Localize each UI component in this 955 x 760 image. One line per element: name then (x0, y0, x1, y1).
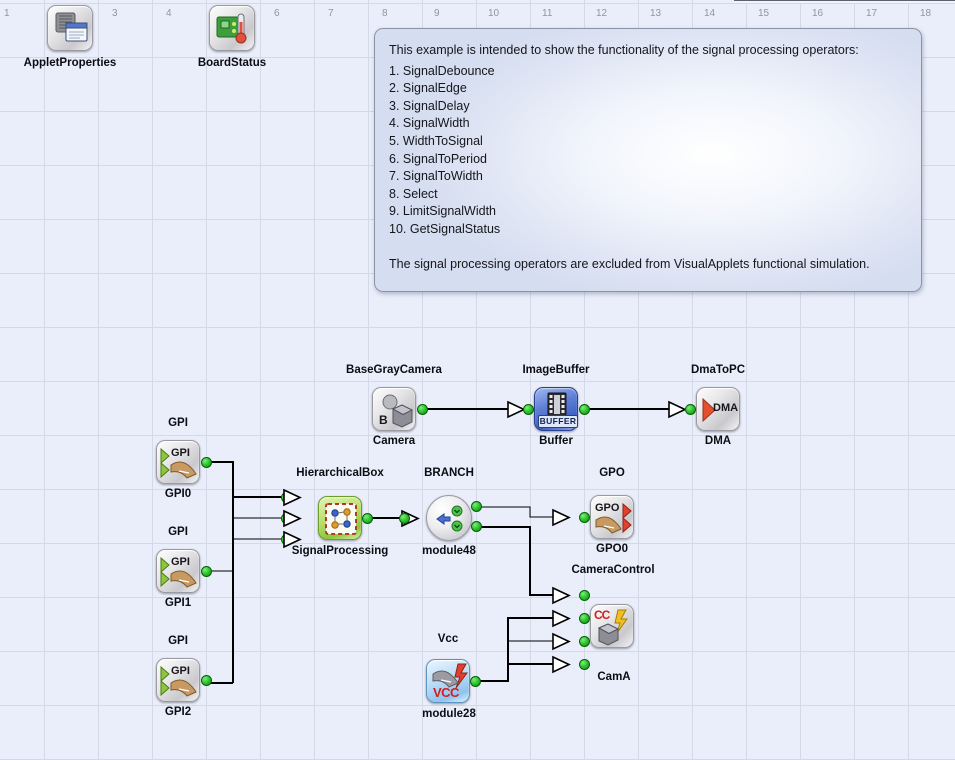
gpi1-badge: GPI (171, 557, 190, 568)
gpi2-output-port[interactable] (201, 675, 212, 686)
camera-glyph: B (373, 388, 417, 432)
camctrl-input-arrow-3-icon (551, 632, 573, 651)
buffer-output-port[interactable] (579, 404, 590, 415)
comment-list-item: 6. SignalToPeriod (389, 151, 907, 169)
node-gpi2-name: GPI2 (153, 706, 203, 718)
camctrl-input-port-1[interactable] (579, 590, 590, 601)
applet-properties-icon[interactable] (47, 5, 93, 51)
chip-window-glyph (48, 6, 94, 52)
comment-list-item: 1. SignalDebounce (389, 63, 907, 81)
board-status-icon[interactable] (209, 5, 255, 51)
comment-list-item: 7. SignalToWidth (389, 168, 907, 186)
node-camera-type: BaseGrayCamera (325, 364, 463, 376)
gpo0-input-port[interactable] (579, 512, 590, 523)
branch-input-port[interactable] (399, 513, 410, 524)
branch-output-port-2[interactable] (471, 521, 482, 532)
gpi0-icon[interactable]: GPI (156, 440, 200, 484)
node-camctrl-name: CamA (587, 671, 641, 683)
design-canvas[interactable]: 1 3 4 6 7 8 9 10 11 12 13 14 15 16 17 18 (0, 0, 955, 760)
node-gpi0-type: GPI (157, 417, 199, 429)
branch-output-port-1[interactable] (471, 501, 482, 512)
hierarchy-nodes-glyph (319, 497, 363, 541)
comment-list-item: 4. SignalWidth (389, 115, 907, 133)
node-camctrl-type: CameraControl (568, 564, 658, 576)
gpi0-output-port[interactable] (201, 457, 212, 468)
camera-output-port[interactable] (417, 404, 428, 415)
vcc-badge: VCC (433, 686, 459, 699)
camera-icon[interactable]: B (372, 387, 416, 431)
camera-control-icon[interactable]: CC (590, 604, 634, 648)
comment-footer: The signal processing operators are excl… (389, 256, 907, 274)
camctrl-input-arrow-2-icon (551, 609, 573, 628)
node-camera-name: Camera (356, 435, 432, 447)
node-buffer-type: ImageBuffer (502, 364, 610, 376)
vcc-icon[interactable]: VCC (426, 659, 470, 703)
node-branch-name: module48 (412, 545, 486, 557)
board-status-label: BoardStatus (187, 57, 277, 69)
dma-badge: DMA (713, 403, 738, 414)
board-thermometer-glyph (210, 6, 256, 52)
comment-list-item: 3. SignalDelay (389, 98, 907, 116)
camctrl-input-port-4[interactable] (579, 659, 590, 670)
comment-list-item: 10. GetSignalStatus (389, 221, 907, 239)
camctrl-badge: CC (594, 609, 609, 621)
camctrl-input-arrow-1-icon (551, 586, 573, 605)
node-hbox-type: HierarchicalBox (276, 467, 404, 479)
vcc-output-port[interactable] (470, 676, 481, 687)
hbox-output-port[interactable] (362, 513, 373, 524)
hbox-input-arrow-3-icon (282, 530, 304, 549)
branch-icon[interactable] (426, 495, 472, 541)
node-gpo0-name: GPO0 (587, 543, 637, 555)
buffer-icon[interactable]: BUFFER (534, 387, 578, 431)
comment-list-item: 2. SignalEdge (389, 80, 907, 98)
hierarchical-box-icon[interactable] (318, 496, 362, 540)
node-branch-type: BRANCH (416, 467, 482, 479)
comment-list-item: 5. WidthToSignal (389, 133, 907, 151)
camctrl-input-arrow-4-icon (551, 655, 573, 674)
gpo0-badge: GPO (595, 503, 619, 514)
node-gpi2-type: GPI (157, 635, 199, 647)
comment-box[interactable]: This example is intended to show the fun… (374, 28, 922, 292)
comment-list-item: 9. LimitSignalWidth (389, 203, 907, 221)
node-vcc-type: Vcc (427, 633, 469, 645)
node-dma-name: DMA (688, 435, 748, 447)
node-vcc-name: module28 (412, 708, 486, 720)
node-gpi1-name: GPI1 (153, 597, 203, 609)
gpi2-badge: GPI (171, 666, 190, 677)
dma-icon[interactable]: DMA (696, 387, 740, 431)
dma-input-port[interactable] (685, 404, 696, 415)
gpi0-badge: GPI (171, 448, 190, 459)
camctrl-input-port-2[interactable] (579, 613, 590, 624)
applet-properties-label: AppletProperties (19, 57, 121, 69)
node-buffer-name: Buffer (522, 435, 590, 447)
hbox-input-arrow-1-icon (282, 488, 304, 507)
svg-text:B: B (379, 413, 388, 427)
gpo0-icon[interactable]: GPO (590, 495, 634, 539)
node-gpi0-name: GPI0 (153, 488, 203, 500)
comment-heading: This example is intended to show the fun… (389, 42, 907, 60)
camctrl-input-port-3[interactable] (579, 636, 590, 647)
node-dma-type: DmaToPC (680, 364, 756, 376)
gpi1-icon[interactable]: GPI (156, 549, 200, 593)
gpo0-input-arrow-icon (551, 508, 573, 527)
hbox-input-arrow-2-icon (282, 509, 304, 528)
gpi2-icon[interactable]: GPI (156, 658, 200, 702)
node-gpi1-type: GPI (157, 526, 199, 538)
comment-operator-list: 1. SignalDebounce 2. SignalEdge 3. Signa… (389, 63, 907, 239)
buffer-input-port[interactable] (523, 404, 534, 415)
buffer-badge: BUFFER (538, 415, 578, 428)
gpi1-output-port[interactable] (201, 566, 212, 577)
comment-list-item: 8. Select (389, 186, 907, 204)
node-gpo0-type: GPO (590, 467, 634, 479)
